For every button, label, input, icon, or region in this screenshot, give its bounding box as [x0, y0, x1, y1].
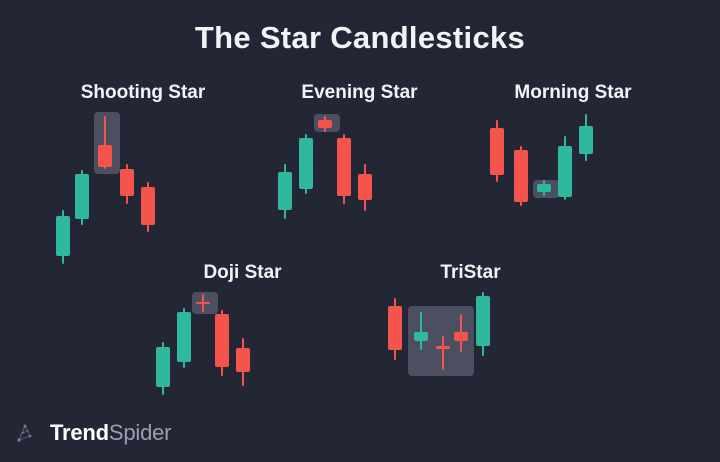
- candle-body: [120, 169, 134, 196]
- candle-2-up: [75, 112, 89, 282]
- candle-5-up: [476, 292, 490, 462]
- candle-2-up: [177, 292, 191, 462]
- candle-4-down: [337, 112, 351, 282]
- candle-3-down: [318, 112, 332, 282]
- candle-body: [156, 347, 170, 387]
- candle-body: [196, 302, 210, 304]
- candle-2-down: [514, 112, 528, 282]
- candle-body: [388, 306, 402, 350]
- candle-4-down: [454, 292, 468, 462]
- candle-body: [278, 172, 292, 210]
- candle-body: [537, 184, 551, 192]
- candle-body: [215, 314, 229, 367]
- candle-5-down: [358, 112, 372, 282]
- candlestick-plot: [478, 112, 668, 282]
- trendspider-web-icon: [16, 420, 42, 446]
- candle-body: [436, 346, 450, 349]
- candle-wick: [442, 336, 444, 370]
- candle-body: [98, 145, 112, 167]
- candle-4-down: [215, 292, 229, 462]
- candlestick-plot: [48, 112, 238, 282]
- pattern-panel-doji-star: Doji Star: [150, 262, 335, 432]
- pattern-panel-tristar: TriStar: [378, 262, 563, 432]
- candlestick-plot: [378, 292, 563, 462]
- candle-2-up: [299, 112, 313, 282]
- panel-title: TriStar: [378, 262, 563, 284]
- candle-5-down: [236, 292, 250, 462]
- candle-body: [337, 138, 351, 196]
- candle-1-up: [56, 112, 70, 282]
- brand-logo[interactable]: TrendSpider: [16, 420, 171, 446]
- candle-5-down: [141, 112, 155, 282]
- candle-body: [299, 138, 313, 189]
- candle-body: [514, 150, 528, 202]
- candlestick-plot: [150, 292, 335, 462]
- candle-body: [414, 332, 428, 341]
- candle-4-down: [120, 112, 134, 282]
- candle-body: [358, 174, 372, 200]
- candle-body: [454, 332, 468, 341]
- candle-3-down: [436, 292, 450, 462]
- candle-2-up: [414, 292, 428, 462]
- pattern-panel-shooting-star: Shooting Star: [48, 82, 238, 252]
- candle-body: [318, 120, 332, 128]
- candle-body: [177, 312, 191, 362]
- panel-title: Evening Star: [272, 82, 447, 104]
- candle-body: [56, 216, 70, 256]
- panel-title: Doji Star: [150, 262, 335, 284]
- pattern-panel-evening-star: Evening Star: [272, 82, 447, 252]
- candle-wick: [420, 312, 422, 350]
- candle-1-down: [490, 112, 504, 282]
- candle-body: [141, 187, 155, 225]
- candle-body: [236, 348, 250, 372]
- candle-body: [579, 126, 593, 154]
- logo-word-trend: Trend: [50, 420, 109, 445]
- pattern-panel-morning-star: Morning Star: [478, 82, 668, 252]
- candle-body: [75, 174, 89, 219]
- page-title: The Star Candlesticks: [0, 20, 720, 56]
- candle-3-up: [537, 112, 551, 282]
- candle-3-down: [98, 112, 112, 282]
- candle-5-up: [579, 112, 593, 282]
- candle-1-up: [278, 112, 292, 282]
- logo-wordmark: TrendSpider: [50, 420, 171, 446]
- logo-word-spider: Spider: [109, 420, 171, 445]
- candlestick-plot: [272, 112, 447, 282]
- candle-body: [490, 128, 504, 175]
- candle-3-down: [196, 292, 210, 462]
- candle-4-up: [558, 112, 572, 282]
- candle-1-down: [388, 292, 402, 462]
- panel-title: Shooting Star: [48, 82, 238, 104]
- candle-body: [558, 146, 572, 197]
- panel-title: Morning Star: [478, 82, 668, 104]
- candle-body: [476, 296, 490, 346]
